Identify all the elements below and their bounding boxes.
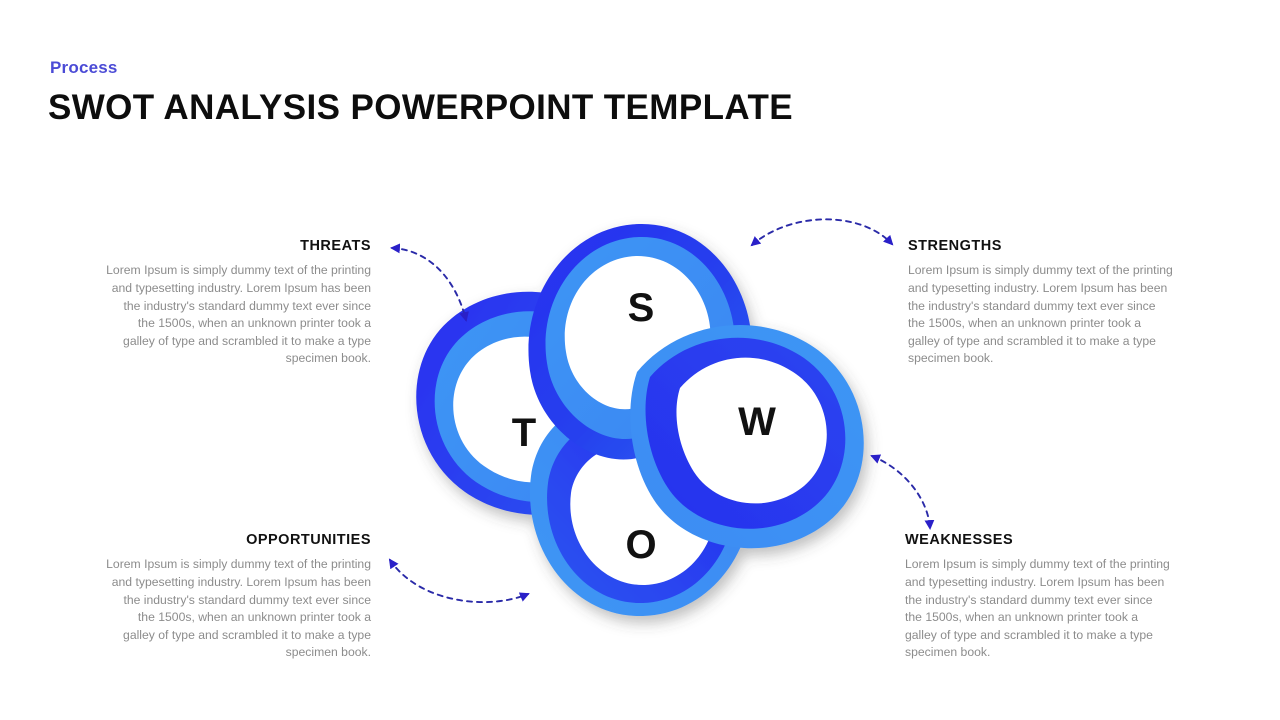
block-title-strengths: STRENGTHS <box>908 238 1174 255</box>
page-title: SWOT ANALYSIS POWERPOINT TEMPLATE <box>48 88 793 128</box>
petal-bottom <box>530 382 753 616</box>
block-body-strengths: Lorem Ipsum is simply dummy text of the … <box>908 262 1174 367</box>
slide-canvas: Process SWOT ANALYSIS POWERPOINT TEMPLAT… <box>0 0 1280 720</box>
petal-letter-opportunities: O <box>625 525 656 565</box>
text-block-strengths: STRENGTHS Lorem Ipsum is simply dummy te… <box>908 238 1174 368</box>
block-body-threats: Lorem Ipsum is simply dummy text of the … <box>105 262 371 367</box>
block-title-opportunities: OPPORTUNITIES <box>105 532 371 549</box>
text-block-weaknesses: WEAKNESSES Lorem Ipsum is simply dummy t… <box>905 532 1171 662</box>
block-title-weaknesses: WEAKNESSES <box>905 532 1171 549</box>
text-block-threats: THREATS Lorem Ipsum is simply dummy text… <box>105 238 371 368</box>
petal-letter-strengths: S <box>628 288 655 328</box>
petal-top <box>528 224 752 460</box>
petal-left <box>416 292 649 515</box>
block-title-threats: THREATS <box>105 238 371 255</box>
petal-letter-weaknesses: W <box>738 402 776 442</box>
text-block-opportunities: OPPORTUNITIES Lorem Ipsum is simply dumm… <box>105 532 371 662</box>
block-body-weaknesses: Lorem Ipsum is simply dummy text of the … <box>905 556 1171 661</box>
connector-weaknesses <box>872 456 930 528</box>
eyebrow-label: Process <box>50 58 118 78</box>
block-body-opportunities: Lorem Ipsum is simply dummy text of the … <box>105 556 371 661</box>
connector-group <box>390 219 930 602</box>
connector-threats <box>392 248 466 320</box>
connector-strengths <box>752 219 892 245</box>
petal-letter-threats: T <box>512 413 536 453</box>
connector-opportunities <box>390 560 528 602</box>
